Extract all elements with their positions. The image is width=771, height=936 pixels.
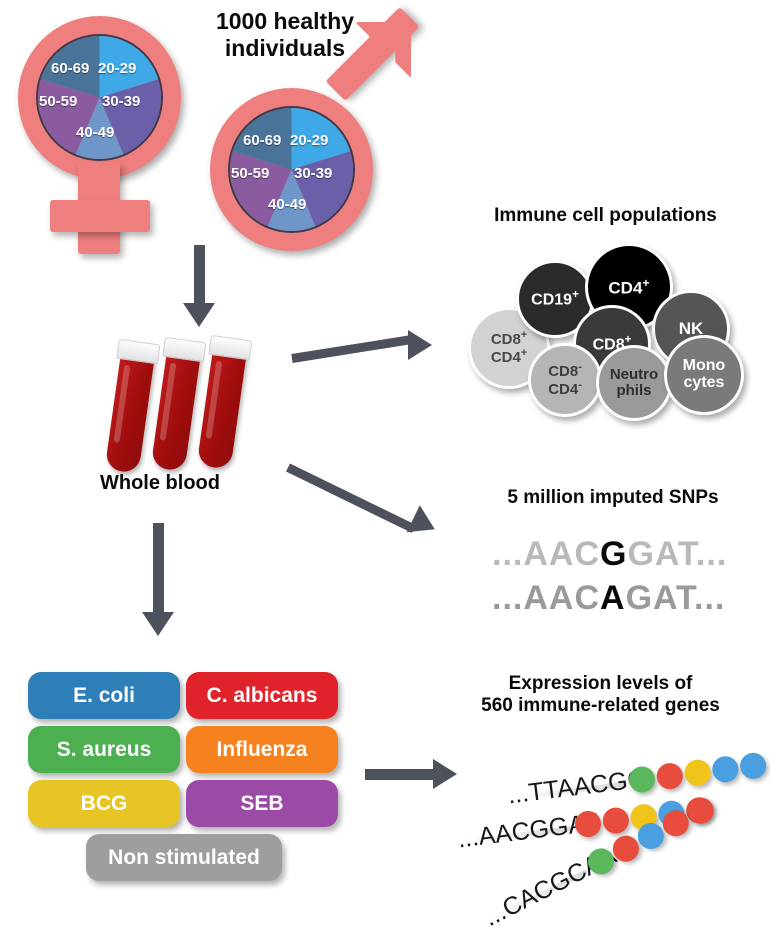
female-symbol-crossbar — [50, 200, 150, 232]
stimulus-label: BCG — [81, 792, 128, 816]
stimulus-c-albicans[interactable]: C. albicans — [186, 672, 338, 719]
blood-tube — [151, 346, 202, 472]
expression-bead — [655, 762, 684, 791]
snps-title: 5 million imputed SNPs — [455, 487, 771, 509]
stimulus-s-aureus[interactable]: S. aureus — [28, 726, 180, 773]
expression-title-line-2: 560 immune-related genes — [430, 695, 771, 717]
pie-label-30-39: 30-39 — [294, 165, 332, 182]
snp-suffix: GAT... — [627, 535, 727, 573]
cell-label-line2: CD4+ — [491, 348, 527, 366]
stimulus-seb[interactable]: SEB — [186, 780, 338, 827]
cell-label-line1: Mono — [683, 358, 726, 375]
age-pie-chart-male: 20-29 30-39 40-49 50-59 60-69 — [228, 106, 355, 233]
whole-blood-label: Whole blood — [60, 472, 260, 496]
cell-cd8neg-cd4neg: CD8- CD4- — [528, 343, 602, 417]
cell-label: CD19+ — [531, 289, 579, 309]
pie-label-30-39: 30-39 — [102, 93, 140, 110]
blood-tube — [105, 348, 156, 474]
stimulus-label: Influenza — [216, 738, 307, 762]
snp-sequence-row: ...AACAGAT... — [492, 579, 725, 618]
pie-label-20-29: 20-29 — [290, 132, 328, 149]
blood-tube — [197, 344, 248, 470]
stimulus-non-stimulated[interactable]: Non stimulated — [86, 834, 282, 881]
stimulus-label: Non stimulated — [108, 846, 260, 870]
snp-suffix: GAT... — [626, 579, 726, 617]
immune-cell-cluster: CD8+ CD4+ CD19+ CD4+ NK CD8+ — [440, 235, 771, 415]
tube-highlight — [114, 365, 131, 443]
female-gender-symbol: 20-29 30-39 40-49 50-59 60-69 — [10, 12, 190, 257]
tube-cap — [162, 337, 206, 363]
age-pie-chart-female: 20-29 30-39 40-49 50-59 60-69 — [36, 34, 163, 161]
pie-label-50-59: 50-59 — [39, 93, 77, 110]
cell-label: CD4+ — [608, 277, 649, 298]
cell-label-line1: CD8+ — [491, 330, 527, 348]
tube-highlight — [160, 363, 177, 441]
arrow-blood-to-immune-cells — [292, 330, 452, 380]
arrow-blood-to-snps — [288, 455, 463, 545]
figure-canvas: 1000 healthy individuals 20-29 30-39 40-… — [0, 0, 771, 922]
pie-label-50-59: 50-59 — [231, 165, 269, 182]
stimulus-label: S. aureus — [57, 738, 152, 762]
stimulus-label: C. albicans — [207, 684, 318, 708]
cell-label-line2: cytes — [684, 375, 725, 392]
snp-sequences: ...AACGGAT... ...AACAGAT... — [492, 535, 762, 625]
expression-strands: ...TTAACGG ...AACGGAT ...CACGCAA — [440, 730, 771, 920]
cell-neutrophils: Neutro phils — [596, 345, 672, 421]
stimulus-label: SEB — [240, 792, 283, 816]
cell-monocytes: Mono cytes — [664, 335, 744, 415]
pie-label-40-49: 40-49 — [76, 124, 114, 141]
stimulus-influenza[interactable]: Influenza — [186, 726, 338, 773]
tube-cap — [116, 339, 160, 365]
cell-label-line1: Neutro — [610, 367, 658, 383]
snp-variant-allele: A — [600, 579, 626, 617]
stimulus-bcg[interactable]: BCG — [28, 780, 180, 827]
cell-label-line1: CD8- — [548, 362, 582, 380]
snp-prefix: ...AAC — [492, 535, 600, 573]
expression-title: Expression levels of 560 immune-related … — [430, 673, 771, 718]
tube-highlight — [206, 361, 223, 439]
cell-label-line2: phils — [616, 383, 651, 399]
pie-label-20-29: 20-29 — [98, 60, 136, 77]
cell-label-line2: CD4- — [548, 380, 582, 398]
stimulus-label: E. coli — [73, 684, 135, 708]
pie-label-60-69: 60-69 — [243, 132, 281, 149]
pie-label-60-69: 60-69 — [51, 60, 89, 77]
whole-blood-tubes — [105, 345, 255, 465]
snp-sequence-row: ...AACGGAT... — [492, 535, 727, 574]
snp-prefix: ...AAC — [492, 579, 600, 617]
snp-variant-allele: G — [600, 535, 627, 573]
tube-cap — [208, 335, 252, 361]
immune-cells-title: Immune cell populations — [440, 205, 771, 227]
expression-title-line-1: Expression levels of — [430, 673, 771, 695]
stimulus-e-coli[interactable]: E. coli — [28, 672, 180, 719]
pie-label-40-49: 40-49 — [268, 196, 306, 213]
male-gender-symbol: 20-29 30-39 40-49 50-59 60-69 — [200, 40, 415, 245]
expression-bead — [683, 758, 712, 787]
stimuli-panel: E. coli C. albicans S. aureus Influenza … — [28, 672, 338, 902]
